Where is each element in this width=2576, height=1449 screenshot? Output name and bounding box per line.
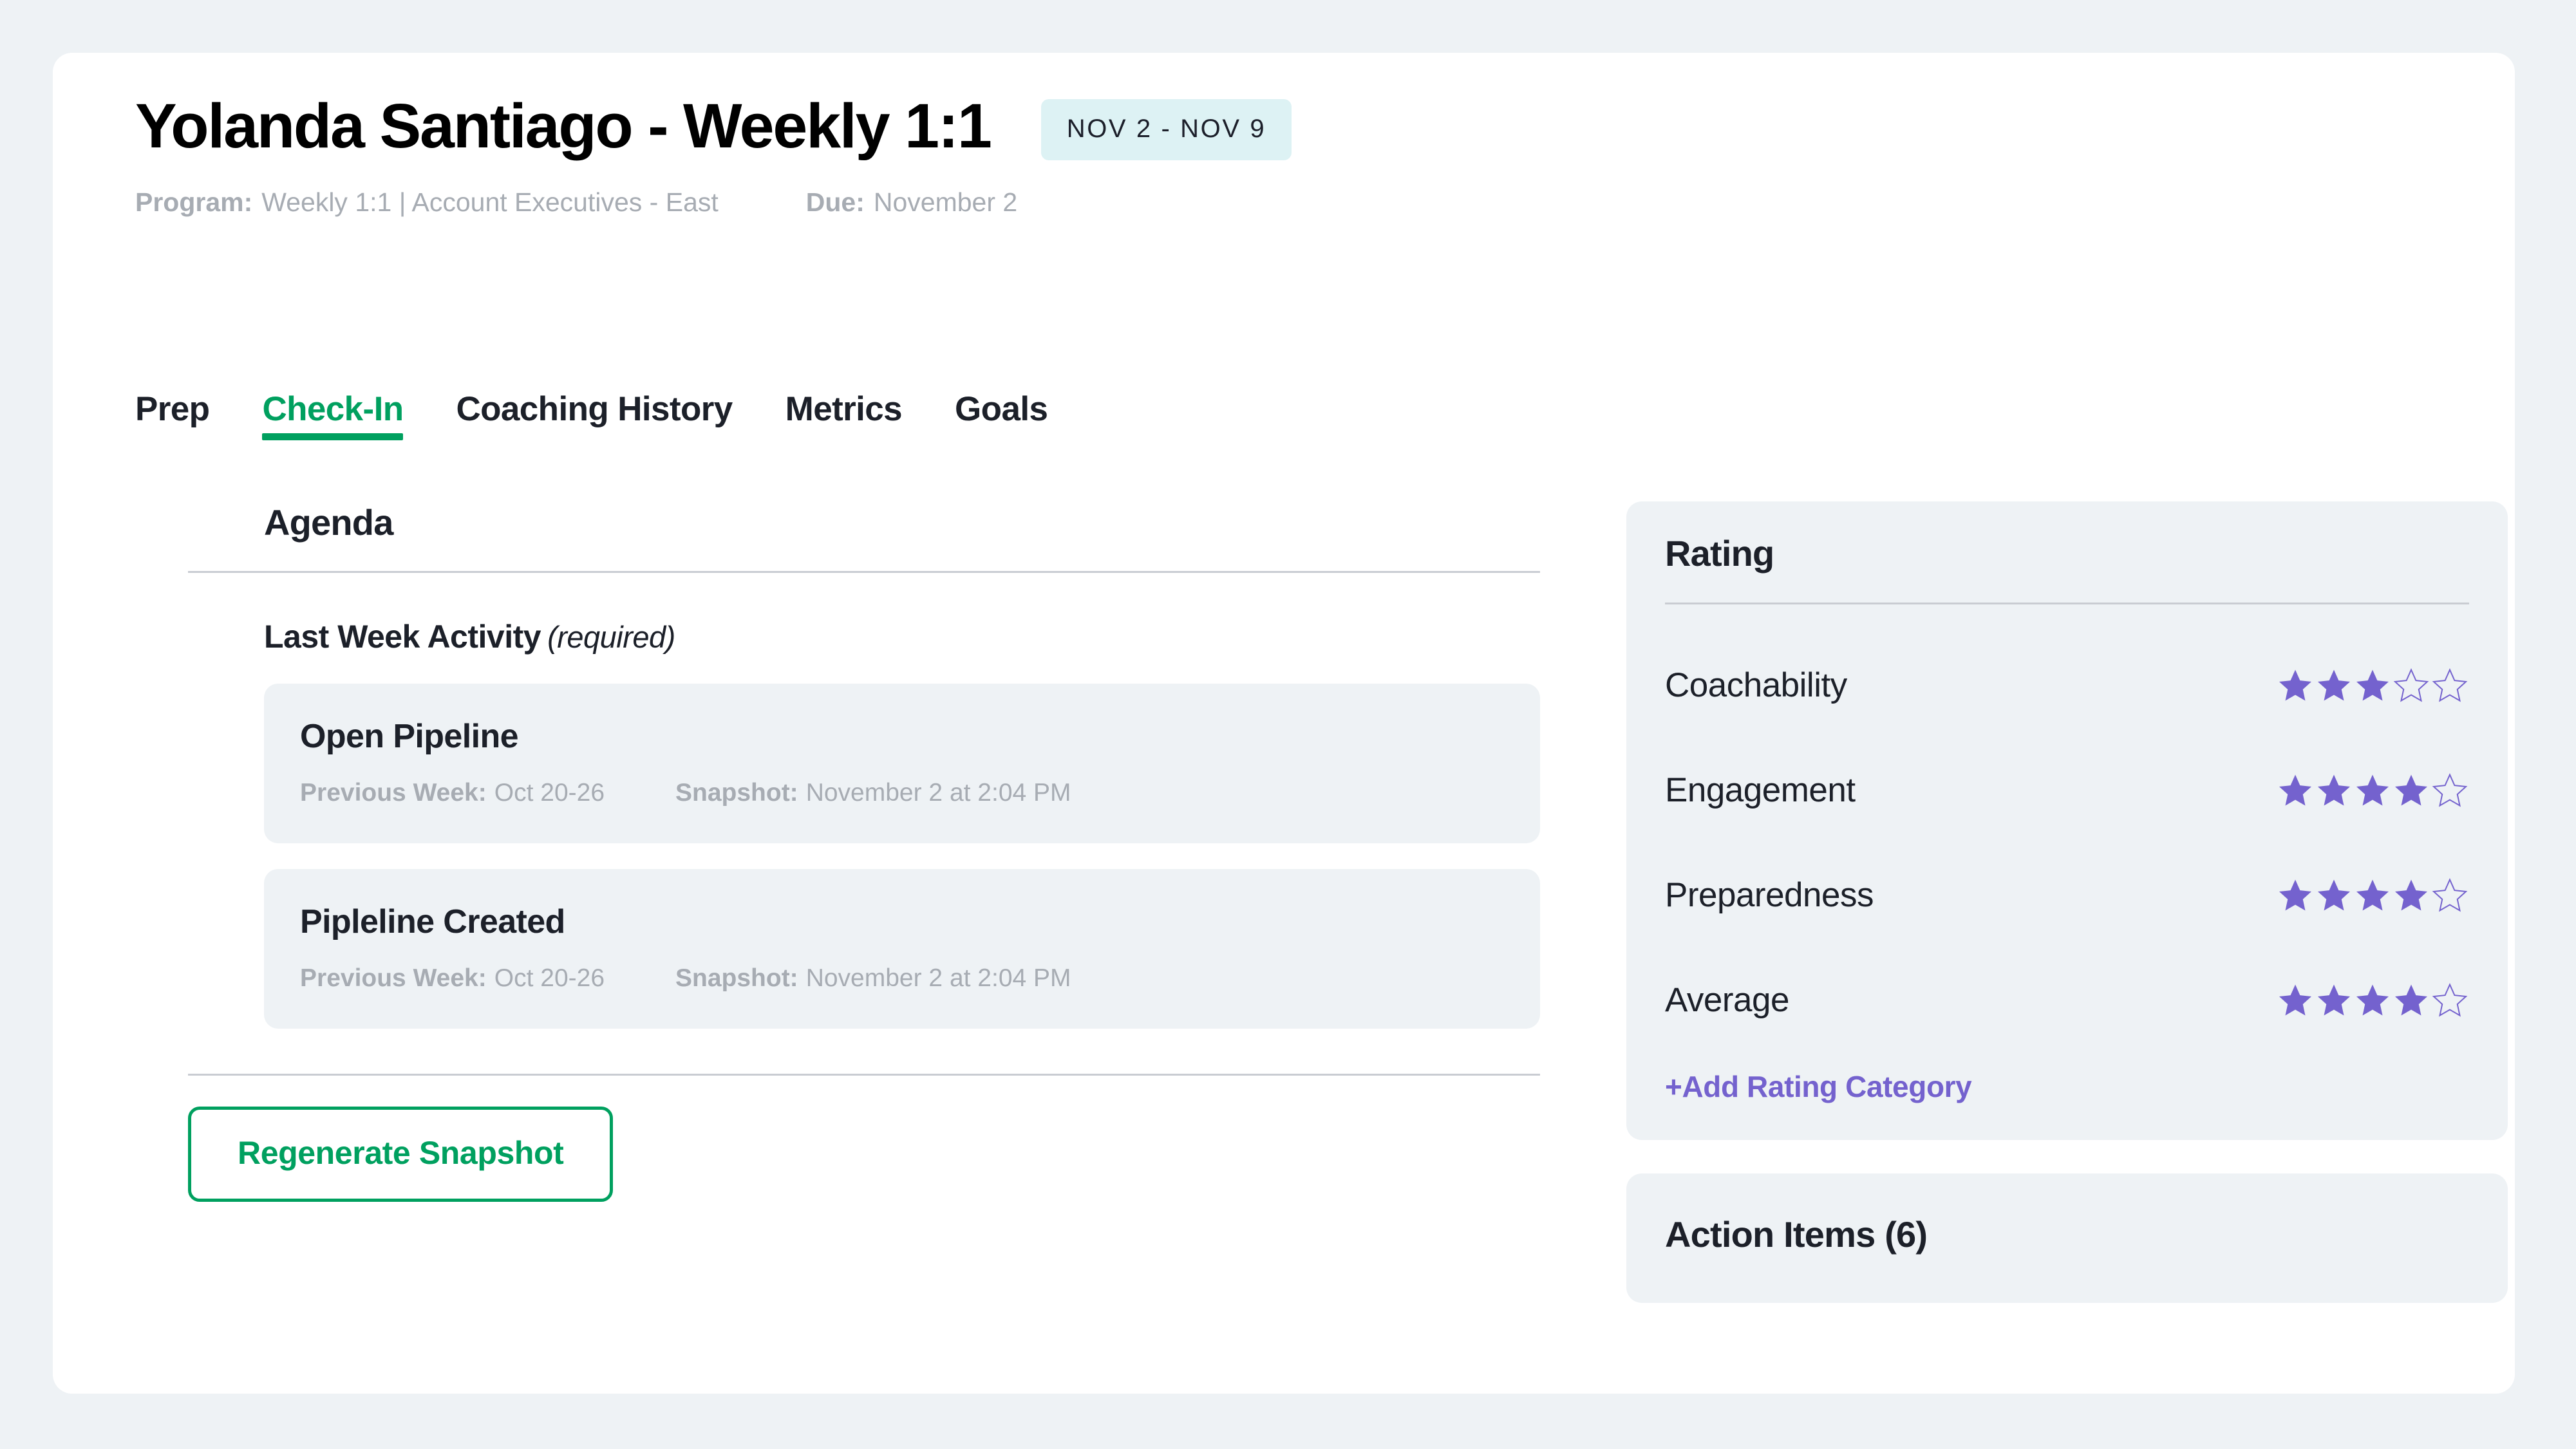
star-outline-icon[interactable] [2392,666,2430,705]
tab-check-in[interactable]: Check-In [262,389,403,440]
agenda-bottom-divider [188,1074,1540,1076]
star-rating-coachability[interactable] [2276,666,2469,705]
star-filled-icon[interactable] [2276,876,2315,915]
star-outline-icon[interactable] [2430,876,2469,915]
action-items-panel[interactable]: Action Items (6) [1626,1173,2508,1303]
previous-week-label: Previous Week: [300,964,487,992]
previous-week-value: Oct 20-26 [494,964,605,992]
action-items-title: Action Items (6) [1665,1213,2469,1255]
star-filled-icon[interactable] [2392,981,2430,1020]
snapshot-value: November 2 at 2:04 PM [806,779,1071,807]
snapshot-value: November 2 at 2:04 PM [806,964,1071,992]
star-filled-icon[interactable] [2353,771,2392,810]
meta-row: Program:Weekly 1:1 | Account Executives … [135,187,2476,218]
star-filled-icon[interactable] [2392,771,2430,810]
star-filled-icon[interactable] [2276,771,2315,810]
previous-week-label: Previous Week: [300,779,487,807]
program-value: Weekly 1:1 | Account Executives - East [261,187,719,217]
star-outline-icon[interactable] [2430,981,2469,1020]
rating-panel-title: Rating [1665,532,2469,574]
activity-card-open-pipeline[interactable]: Open Pipeline Previous Week:Oct 20-26 Sn… [264,684,1540,843]
star-filled-icon[interactable] [2276,666,2315,705]
star-filled-icon[interactable] [2392,876,2430,915]
rating-label: Coachability [1665,666,1847,705]
required-marker: (required) [547,620,675,654]
regenerate-snapshot-button[interactable]: Regenerate Snapshot [188,1107,613,1202]
activity-name: Open Pipeline [300,717,1504,756]
agenda-heading: Agenda [188,501,1540,543]
snapshot-meta: Snapshot:November 2 at 2:04 PM [675,779,1071,807]
side-column: Rating Coachability Engagement Prepar [1626,501,2508,1303]
previous-week-meta: Previous Week:Oct 20-26 [300,779,605,807]
app-root: Yolanda Santiago - Weekly 1:1 NOV 2 - NO… [0,0,2576,1449]
rating-panel-divider [1665,603,2469,604]
last-week-activity-heading: Last Week Activity(required) [188,618,1540,655]
title-row: Yolanda Santiago - Weekly 1:1 NOV 2 - NO… [135,91,2476,160]
program-label: Program: [135,187,252,217]
snapshot-label: Snapshot: [675,964,798,992]
agenda-column: Agenda Last Week Activity(required) Open… [188,501,1540,1202]
star-filled-icon[interactable] [2315,666,2353,705]
rating-label: Average [1665,980,1789,1020]
last-week-activity-label: Last Week Activity [264,619,541,655]
snapshot-meta: Snapshot:November 2 at 2:04 PM [675,964,1071,993]
previous-week-value: Oct 20-26 [494,779,605,807]
due-value: November 2 [874,187,1017,217]
page-title: Yolanda Santiago - Weekly 1:1 [135,93,991,159]
star-rating-engagement[interactable] [2276,771,2469,810]
snapshot-label: Snapshot: [675,779,798,807]
date-range-badge: NOV 2 - NOV 9 [1041,99,1292,160]
star-rating-preparedness[interactable] [2276,876,2469,915]
activity-name: Pipleline Created [300,902,1504,941]
star-filled-icon[interactable] [2315,771,2353,810]
tab-coaching-history[interactable]: Coaching History [456,389,732,440]
rating-rows: Coachability Engagement Preparedness [1665,633,2469,1052]
due-label: Due: [806,187,865,217]
rating-label: Engagement [1665,771,1856,810]
star-filled-icon[interactable] [2315,876,2353,915]
star-filled-icon[interactable] [2353,876,2392,915]
program-meta: Program:Weekly 1:1 | Account Executives … [135,187,719,218]
activity-meta: Previous Week:Oct 20-26 Snapshot:Novembe… [300,779,1504,807]
tab-prep[interactable]: Prep [135,389,209,440]
rating-row-engagement[interactable]: Engagement [1665,738,2469,843]
rating-label: Preparedness [1665,875,1874,915]
star-filled-icon[interactable] [2276,981,2315,1020]
star-filled-icon[interactable] [2315,981,2353,1020]
tab-bar: Prep Check-In Coaching History Metrics G… [135,389,1048,440]
activity-meta: Previous Week:Oct 20-26 Snapshot:Novembe… [300,964,1504,993]
rating-row-average[interactable]: Average [1665,948,2469,1052]
check-in-card: Yolanda Santiago - Weekly 1:1 NOV 2 - NO… [53,53,2515,1394]
activity-card-pipeline-created[interactable]: Pipleline Created Previous Week:Oct 20-2… [264,869,1540,1029]
rating-row-coachability[interactable]: Coachability [1665,633,2469,738]
agenda-divider [188,571,1540,573]
tab-metrics[interactable]: Metrics [785,389,902,440]
star-outline-icon[interactable] [2430,666,2469,705]
rating-panel: Rating Coachability Engagement Prepar [1626,501,2508,1140]
due-meta: Due:November 2 [806,187,1017,218]
add-rating-category-link[interactable]: +Add Rating Category [1665,1069,1971,1104]
rating-row-preparedness[interactable]: Preparedness [1665,843,2469,948]
star-filled-icon[interactable] [2353,666,2392,705]
star-filled-icon[interactable] [2353,981,2392,1020]
previous-week-meta: Previous Week:Oct 20-26 [300,964,605,993]
tab-goals[interactable]: Goals [955,389,1048,440]
star-outline-icon[interactable] [2430,771,2469,810]
page-header: Yolanda Santiago - Weekly 1:1 NOV 2 - NO… [135,91,2476,218]
star-rating-average[interactable] [2276,981,2469,1020]
